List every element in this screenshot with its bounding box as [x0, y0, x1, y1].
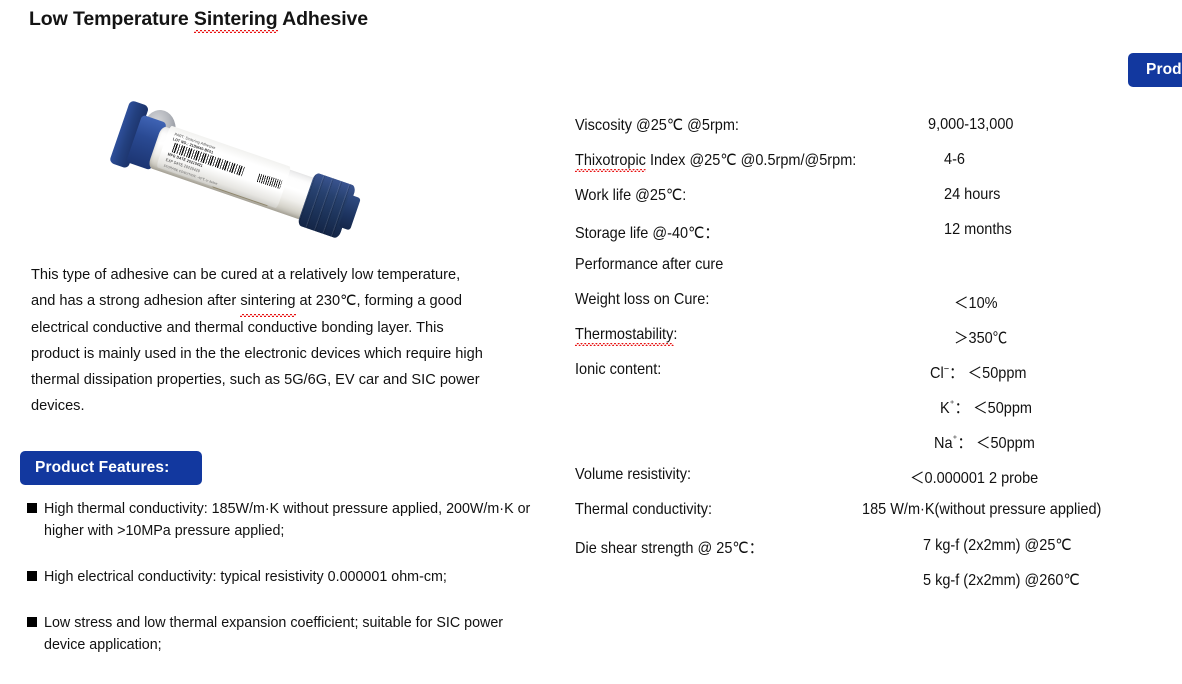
- feature-item: High electrical conductivity: typical re…: [27, 566, 547, 588]
- ion-symbol: Cl: [930, 365, 944, 382]
- parameter-label: Die shear strength @ 25℃：: [575, 536, 763, 558]
- feature-item: High thermal conductivity: 185W/m·K with…: [27, 498, 547, 542]
- parameter-value: 9,000-13,000: [928, 116, 1013, 134]
- feature-item-label: Low stress and low thermal expansion coe…: [44, 615, 503, 653]
- parameter-label: Viscosity @25℃ @5rpm:: [575, 116, 739, 135]
- parameter-value: 7 kg-f (2x2mm) @25℃: [923, 536, 1072, 555]
- parameter-label-misspelled-word: Thixotropic: [575, 152, 646, 170]
- parameter-label-misspelled-word: Thermostability: [575, 326, 673, 344]
- parameter-value: 185 W/m·K(without pressure applied): [862, 501, 1101, 519]
- product-parameters-heading-label: Product Parameters:: [1146, 61, 1182, 79]
- parameter-label: Weight loss on Cure:: [575, 291, 709, 309]
- parameter-label: Performance after cure: [575, 256, 723, 274]
- parameter-row: 5 kg-f (2x2mm) @260℃: [560, 571, 1182, 597]
- ion-symbol: Na: [934, 435, 953, 452]
- parameter-ion-value: K⁺： ＜50ppm: [940, 396, 1032, 418]
- square-bullet-icon: [27, 571, 37, 581]
- parameter-label: Storage life @-40℃：: [575, 221, 719, 243]
- parameter-row: Performance after cure: [560, 256, 1182, 282]
- parameter-label: Thermal conductivity:: [575, 501, 712, 519]
- parameter-value: 4-6: [944, 151, 965, 169]
- product-parameters-column: Product Parameters: Viscosity @25℃ @5rpm…: [560, 0, 1182, 684]
- ion-amount: ： ＜50ppm: [955, 400, 1032, 417]
- ion-amount: ： ＜50ppm: [949, 365, 1026, 382]
- parameter-row: Viscosity @25℃ @5rpm:9,000-13,000: [560, 116, 1182, 142]
- ion-symbol: K: [940, 400, 950, 417]
- feature-item-label: High thermal conductivity: 185W/m·K with…: [44, 501, 530, 539]
- parameter-label-suffix: :: [673, 326, 677, 343]
- parameter-row: Thermal conductivity:185 W/m·K(without p…: [560, 501, 1182, 527]
- feature-item-label: High electrical conductivity: typical re…: [44, 569, 447, 585]
- parameter-label-suffix: Index @25℃ @0.5rpm/@5rpm:: [646, 152, 856, 169]
- parameter-ion-value: Cl−： ＜50ppm: [930, 361, 1027, 383]
- parameter-ion-value: Na⁺： ＜50ppm: [934, 431, 1035, 453]
- parameter-row: Thermostability:＞350℃: [560, 326, 1182, 352]
- product-description: This type of adhesive can be cured at a …: [31, 262, 483, 420]
- description-misspelled-word: sintering: [240, 288, 295, 314]
- square-bullet-icon: [27, 503, 37, 513]
- parameter-label: Thermostability:: [575, 326, 677, 344]
- parameter-value: ＜0.000001 2 probe: [910, 466, 1038, 488]
- parameter-row: Work life @25℃:24 hours: [560, 186, 1182, 212]
- parameter-label: Volume resistivity:: [575, 466, 691, 484]
- parameter-value: 5 kg-f (2x2mm) @260℃: [923, 571, 1080, 590]
- product-features-heading-label: Product Features:: [35, 459, 169, 477]
- parameter-row: Volume resistivity:＜0.000001 2 probe: [560, 466, 1182, 492]
- parameter-row: Die shear strength @ 25℃：7 kg-f (2x2mm) …: [560, 536, 1182, 562]
- parameter-row: Thixotropic Index @25℃ @0.5rpm/@5rpm:4-6: [560, 151, 1182, 177]
- secondary-barcode: [257, 173, 283, 189]
- syringe-label: PART: Sintering Adhesive LOT NO.: 21DW40…: [156, 125, 291, 208]
- ion-amount: ： ＜50ppm: [957, 435, 1034, 452]
- parameter-row: Storage life @-40℃：12 months: [560, 221, 1182, 247]
- parameter-label: Thixotropic Index @25℃ @0.5rpm/@5rpm:: [575, 151, 856, 170]
- product-features-list: High thermal conductivity: 185W/m·K with…: [27, 498, 547, 680]
- product-parameters-heading: Product Parameters:: [1128, 53, 1182, 87]
- parameter-row: Ionic content:Cl−： ＜50ppm: [560, 361, 1182, 387]
- product-features-heading: Product Features:: [20, 451, 202, 485]
- syringe-illustration: PART: Sintering Adhesive LOT NO.: 21DW40…: [85, 56, 385, 293]
- parameter-row: Na⁺： ＜50ppm: [560, 431, 1182, 457]
- parameter-label: Ionic content:: [575, 361, 661, 379]
- left-column: PART: Sintering Adhesive LOT NO.: 21DW40…: [0, 0, 560, 684]
- square-bullet-icon: [27, 617, 37, 627]
- feature-item: Low stress and low thermal expansion coe…: [27, 612, 547, 656]
- parameter-value: 12 months: [944, 221, 1012, 239]
- parameter-value: 24 hours: [944, 186, 1000, 204]
- product-photo: PART: Sintering Adhesive LOT NO.: 21DW40…: [104, 94, 366, 254]
- parameter-row: Weight loss on Cure:＜10%: [560, 291, 1182, 317]
- parameter-label: Work life @25℃:: [575, 186, 686, 205]
- parameter-value: ＞350℃: [954, 326, 1007, 348]
- parameter-value: ＜10%: [954, 291, 998, 313]
- parameter-row: K⁺： ＜50ppm: [560, 396, 1182, 422]
